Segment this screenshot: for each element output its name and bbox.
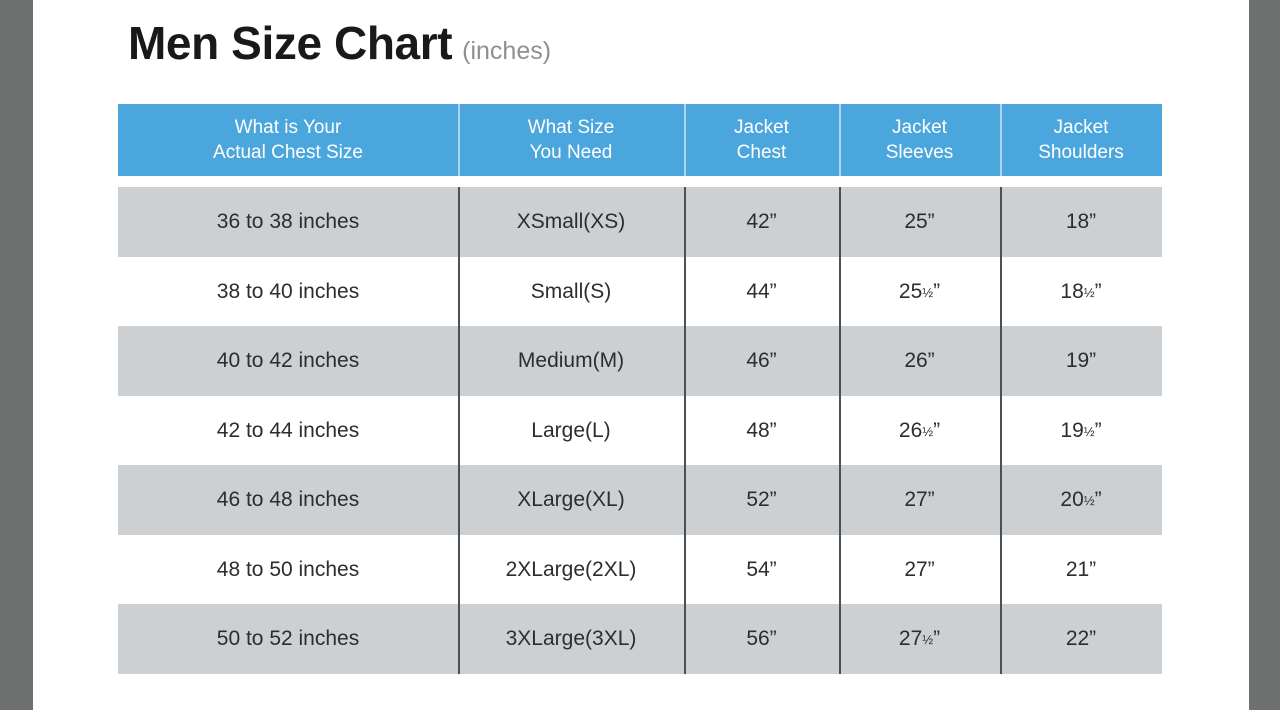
cell-jacket-chest: 46” <box>684 326 839 396</box>
cell-chest-range: 50 to 52 inches <box>118 604 458 674</box>
cell-size-needed: XSmall(XS) <box>458 187 684 257</box>
cell-jacket-sleeves: 26” <box>839 326 1000 396</box>
page-title-unit: (inches) <box>462 39 551 64</box>
column-header-line2: You Need <box>530 140 613 165</box>
cell-size-needed: XLarge(XL) <box>458 465 684 535</box>
cell-jacket-shoulders: 18” <box>1000 187 1162 257</box>
column-header-line1: Jacket <box>734 115 789 140</box>
letterbox-bar-left <box>0 0 33 710</box>
table-header-row: What is Your Actual Chest Size What Size… <box>118 104 1162 176</box>
column-header-line1: What is Your <box>235 115 342 140</box>
cell-jacket-shoulders: 19½” <box>1000 396 1162 466</box>
cell-jacket-sleeves: 27” <box>839 535 1000 605</box>
cell-chest-range: 48 to 50 inches <box>118 535 458 605</box>
cell-jacket-chest: 56” <box>684 604 839 674</box>
document-page: Men Size Chart (inches) What is Your Act… <box>33 0 1249 710</box>
cell-chest-range: 46 to 48 inches <box>118 465 458 535</box>
cell-chest-range: 40 to 42 inches <box>118 326 458 396</box>
cell-jacket-sleeves: 27½” <box>839 604 1000 674</box>
column-header-jacket-shoulders: Jacket Shoulders <box>1000 104 1162 176</box>
cell-jacket-chest: 42” <box>684 187 839 257</box>
table-row: 36 to 38 inches XSmall(XS) 42” 25” 18” <box>118 187 1162 257</box>
column-header-line2: Sleeves <box>886 140 954 165</box>
column-header-jacket-chest: Jacket Chest <box>684 104 839 176</box>
cell-size-needed: Medium(M) <box>458 326 684 396</box>
cell-chest-range: 42 to 44 inches <box>118 396 458 466</box>
cell-jacket-shoulders: 21” <box>1000 535 1162 605</box>
cell-jacket-chest: 54” <box>684 535 839 605</box>
cell-jacket-shoulders: 19” <box>1000 326 1162 396</box>
column-header-line2: Shoulders <box>1038 140 1124 165</box>
cell-jacket-shoulders: 22” <box>1000 604 1162 674</box>
cell-jacket-chest: 52” <box>684 465 839 535</box>
table-row: 38 to 40 inches Small(S) 44” 25½” 18½” <box>118 257 1162 327</box>
table-row: 48 to 50 inches 2XLarge(2XL) 54” 27” 21” <box>118 535 1162 605</box>
cell-jacket-sleeves: 25½” <box>839 257 1000 327</box>
table-row: 50 to 52 inches 3XLarge(3XL) 56” 27½” 22… <box>118 604 1162 674</box>
column-header-line2: Chest <box>737 140 787 165</box>
cell-jacket-sleeves: 26½” <box>839 396 1000 466</box>
screenshot-viewport: Men Size Chart (inches) What is Your Act… <box>0 0 1280 710</box>
letterbox-bar-right <box>1249 0 1280 710</box>
cell-jacket-shoulders: 18½” <box>1000 257 1162 327</box>
table-body: 36 to 38 inches XSmall(XS) 42” 25” 18” 3… <box>118 187 1162 674</box>
column-header-size-needed: What Size You Need <box>458 104 684 176</box>
cell-size-needed: 3XLarge(3XL) <box>458 604 684 674</box>
cell-jacket-chest: 48” <box>684 396 839 466</box>
cell-size-needed: 2XLarge(2XL) <box>458 535 684 605</box>
column-header-line1: What Size <box>528 115 615 140</box>
table-row: 46 to 48 inches XLarge(XL) 52” 27” 20½” <box>118 465 1162 535</box>
cell-jacket-chest: 44” <box>684 257 839 327</box>
table-row: 40 to 42 inches Medium(M) 46” 26” 19” <box>118 326 1162 396</box>
column-header-line1: Jacket <box>892 115 947 140</box>
table-row: 42 to 44 inches Large(L) 48” 26½” 19½” <box>118 396 1162 466</box>
cell-jacket-sleeves: 27” <box>839 465 1000 535</box>
cell-size-needed: Large(L) <box>458 396 684 466</box>
page-title-main: Men Size Chart <box>128 20 452 66</box>
size-chart-table: What is Your Actual Chest Size What Size… <box>118 104 1162 674</box>
cell-chest-range: 36 to 38 inches <box>118 187 458 257</box>
cell-jacket-shoulders: 20½” <box>1000 465 1162 535</box>
cell-size-needed: Small(S) <box>458 257 684 327</box>
column-header-chest-range: What is Your Actual Chest Size <box>118 104 458 176</box>
column-header-jacket-sleeves: Jacket Sleeves <box>839 104 1000 176</box>
cell-chest-range: 38 to 40 inches <box>118 257 458 327</box>
page-title: Men Size Chart (inches) <box>128 20 551 66</box>
cell-jacket-sleeves: 25” <box>839 187 1000 257</box>
header-body-gap <box>118 176 1162 187</box>
column-header-line1: Jacket <box>1054 115 1109 140</box>
column-header-line2: Actual Chest Size <box>213 140 363 165</box>
